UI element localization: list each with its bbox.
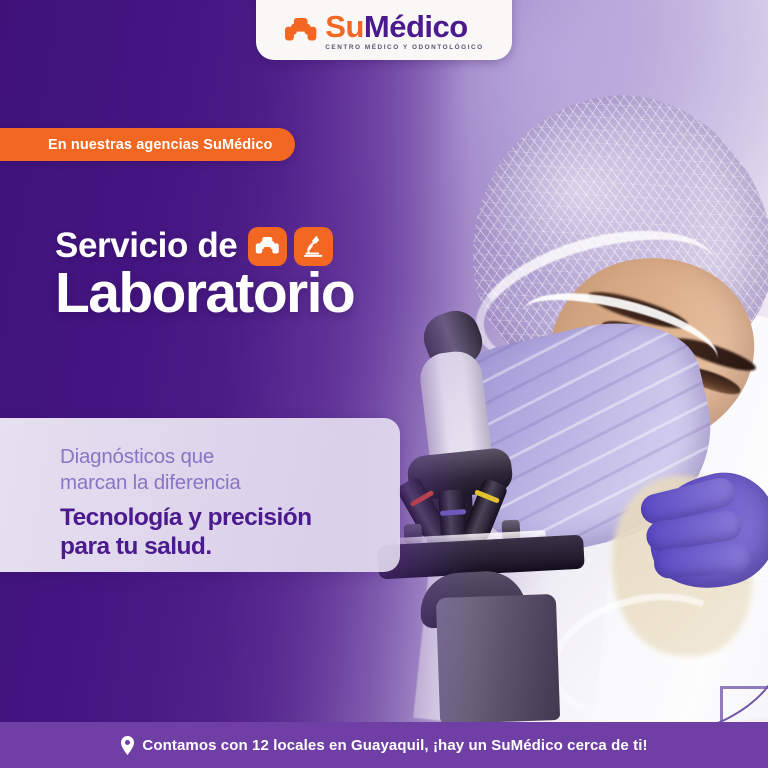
shoulder-shadow bbox=[450, 385, 611, 699]
panel-bold-line-2: para tu salud. bbox=[60, 532, 372, 561]
microscope-turret bbox=[406, 447, 514, 502]
agencies-tag-label: En nuestras agencias SuMédico bbox=[48, 137, 273, 153]
corner-frame-accent bbox=[720, 686, 768, 722]
glove-finger-3 bbox=[653, 543, 751, 580]
eye-right bbox=[677, 362, 743, 399]
microscope-stage-clip-right bbox=[501, 520, 520, 541]
lab-technician-photo bbox=[0, 0, 768, 722]
logo-word-medico: Médico bbox=[364, 9, 468, 44]
thin-wire-line bbox=[551, 580, 768, 722]
microscope-arm bbox=[424, 488, 477, 561]
objective-color-band-red bbox=[409, 490, 434, 507]
agencies-tag-banner[interactable]: En nuestras agencias SuMédico bbox=[0, 128, 295, 161]
panel-light-line-1: Diagnósticos que bbox=[60, 444, 372, 470]
glove-finger-2 bbox=[644, 509, 744, 554]
logo-word-su: Su bbox=[325, 9, 364, 44]
microscope-neck bbox=[419, 569, 528, 628]
microscope-stage-clip-left bbox=[403, 524, 422, 545]
objective-color-band-yellow bbox=[474, 489, 500, 503]
hair-net-cap bbox=[445, 70, 768, 412]
microscope-objective-3 bbox=[461, 477, 508, 544]
footer-text: Contamos con 12 locales en Guayaquil, ¡h… bbox=[142, 737, 647, 754]
headline-line-2: Laboratorio bbox=[55, 264, 354, 322]
footer-bar: Contamos con 12 locales en Guayaquil, ¡h… bbox=[0, 722, 768, 768]
promotional-poster: SuMédico CENTRO MÉDICO Y ODONTOLÓGICO En… bbox=[0, 0, 768, 768]
purple-overlay-veil bbox=[0, 0, 470, 722]
lab-coat bbox=[463, 311, 768, 722]
microscope-stage bbox=[377, 535, 584, 580]
microscope-slide bbox=[398, 530, 547, 554]
microscope-body-tube bbox=[417, 349, 492, 468]
eye-left bbox=[599, 315, 679, 357]
microscope-objective-2 bbox=[438, 489, 468, 553]
panel-bold-line-1: Tecnología y precisión bbox=[60, 503, 372, 532]
lab-tubing bbox=[536, 575, 749, 722]
microscope-badge bbox=[294, 227, 333, 266]
technician-face bbox=[525, 235, 768, 470]
value-proposition-panel: Diagnósticos que marcan la diferencia Te… bbox=[0, 418, 400, 572]
surgical-mask bbox=[431, 304, 733, 572]
lab-coat-fold bbox=[413, 389, 627, 722]
eyebrow-left bbox=[585, 285, 690, 335]
logo-tagline: CENTRO MÉDICO Y ODONTOLÓGICO bbox=[325, 45, 483, 51]
panel-light-line-2: marcan la diferencia bbox=[60, 470, 372, 496]
microscope-objective-1 bbox=[395, 476, 449, 543]
microscope-base bbox=[436, 594, 560, 722]
headline-line-1: Servicio de bbox=[55, 226, 237, 266]
surgical-mask-pleats bbox=[431, 304, 733, 572]
brand-logo[interactable]: SuMédico CENTRO MÉDICO Y ODONTOLÓGICO bbox=[256, 0, 512, 60]
background-blur-object bbox=[612, 476, 752, 656]
eyebrow-right bbox=[672, 332, 759, 376]
medical-cross-icon bbox=[255, 234, 280, 259]
hair-net-rim bbox=[460, 206, 733, 390]
microscope-eyepiece bbox=[417, 304, 489, 376]
medical-cross-icon bbox=[284, 14, 318, 48]
hair-net-fibers bbox=[445, 70, 768, 412]
microscope-icon bbox=[301, 234, 326, 259]
surgical-mask-edge bbox=[515, 277, 726, 393]
glove-finger-1 bbox=[638, 475, 738, 527]
gloved-hand bbox=[635, 460, 768, 603]
service-icon-badges bbox=[248, 227, 333, 266]
cross-badge bbox=[248, 227, 287, 266]
headline-block: Servicio de bbox=[55, 226, 354, 322]
objective-color-band-purple bbox=[440, 509, 466, 516]
location-pin-icon bbox=[120, 736, 135, 755]
nose bbox=[581, 346, 653, 424]
